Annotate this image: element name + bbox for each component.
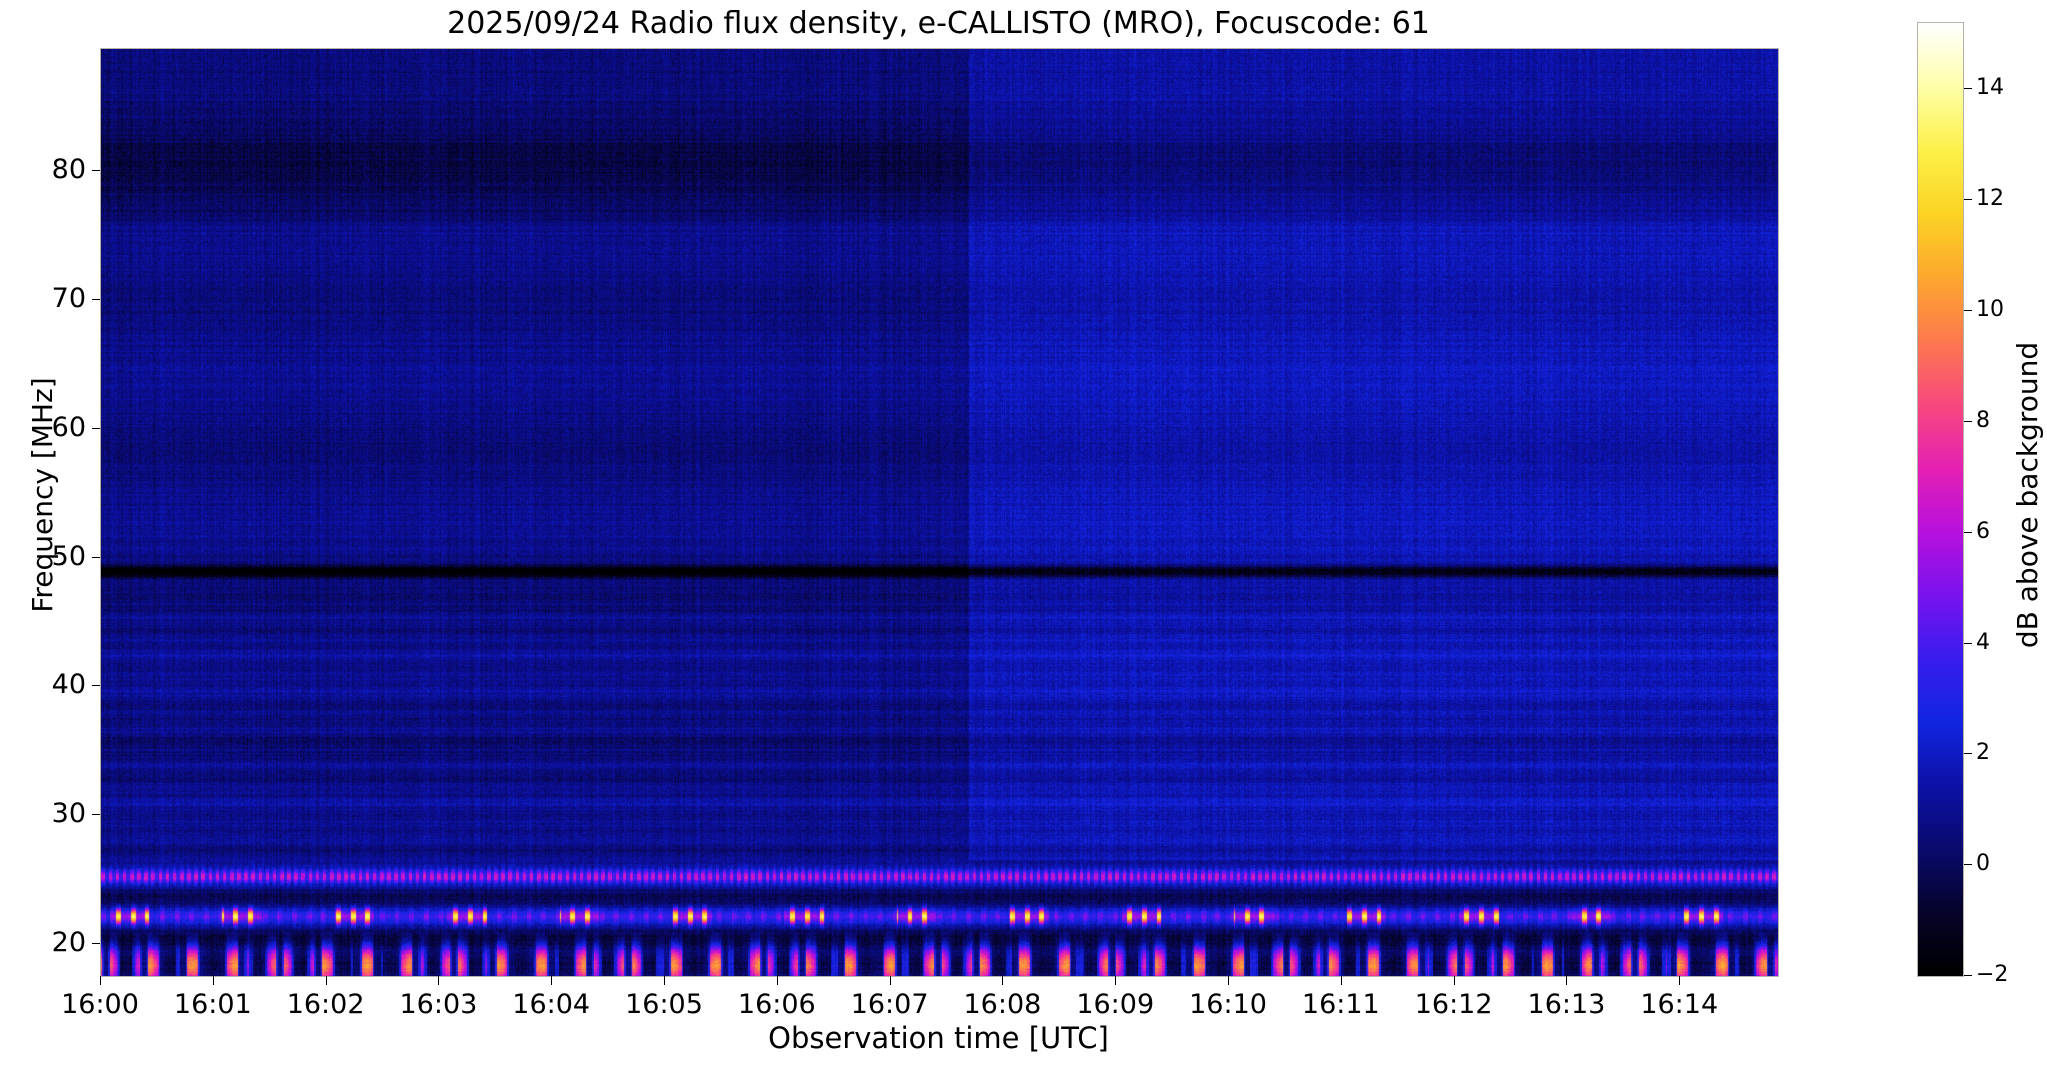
y-axis-tick [92,299,100,300]
colorbar-tick [1964,643,1972,644]
y-axis-title: Frequency [MHz] [28,65,58,925]
x-axis-tick [551,976,552,985]
y-axis-tick [92,685,100,686]
colorbar-tick [1964,864,1972,865]
colorbar-tick-label: −2 [1976,964,2008,986]
colorbar-tick-label: 0 [1976,853,1990,875]
x-axis-tick [438,976,439,985]
spectrogram-image [101,49,1778,976]
colorbar-tick [1964,532,1972,533]
colorbar-tick-label: 6 [1976,521,1990,543]
x-axis-tick [1341,976,1342,985]
x-axis-tick [100,976,101,985]
y-axis-tick [92,814,100,815]
x-axis-tick [890,976,891,985]
y-axis-tick [92,170,100,171]
x-axis-tick [664,976,665,985]
x-axis-tick [213,976,214,985]
colorbar-tick-label: 14 [1976,77,2004,99]
colorbar-tick [1964,753,1972,754]
x-axis-tick [1679,976,1680,985]
colorbar-tick-label: 8 [1976,410,1990,432]
figure-canvas: 2025/09/24 Radio flux density, e-CALLIST… [0,0,2047,1067]
colorbar-tick [1964,88,1972,89]
chart-title: 2025/09/24 Radio flux density, e-CALLIST… [0,5,1877,43]
colorbar-tick [1964,421,1972,422]
x-axis-title: Observation time [UTC] [100,1022,1777,1055]
x-axis-tick [1228,976,1229,985]
colorbar-gradient [1918,23,1963,976]
x-axis-tick [1002,976,1003,985]
colorbar-tick-label: 12 [1976,188,2004,210]
y-axis-tick-label: 20 [40,929,86,956]
x-axis-tick [326,976,327,985]
spectrogram-axes [100,48,1779,977]
colorbar-tick-label: 4 [1976,632,1990,654]
colorbar-tick [1964,975,1972,976]
x-axis-tick [1454,976,1455,985]
y-axis-tick [92,943,100,944]
colorbar-tick [1964,310,1972,311]
y-axis-tick [92,428,100,429]
x-axis-tick [1115,976,1116,985]
x-axis-tick-label: 16:14 [1604,990,1754,1020]
colorbar-tick-label: 10 [1976,299,2004,321]
colorbar-title: dB above background [2013,215,2043,775]
y-axis-tick [92,557,100,558]
colorbar-tick [1964,199,1972,200]
x-axis-tick [1566,976,1567,985]
x-axis-tick [777,976,778,985]
colorbar [1917,22,1964,977]
colorbar-tick-label: 2 [1976,742,1990,764]
